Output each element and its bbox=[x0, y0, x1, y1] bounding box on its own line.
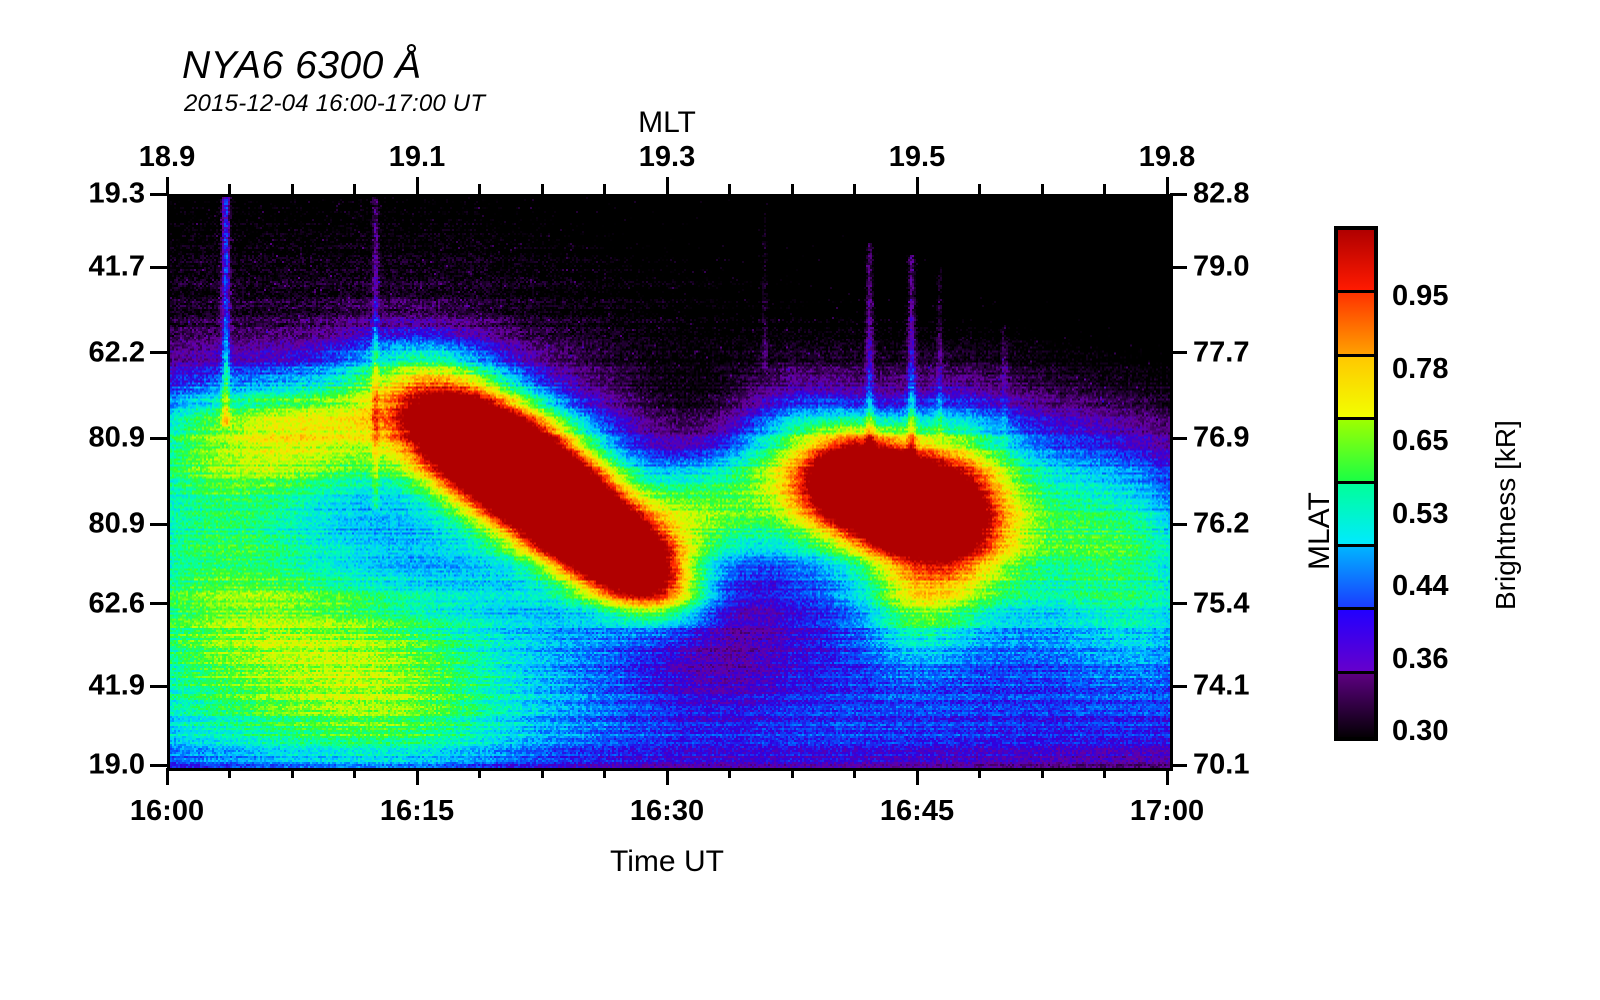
colorbar-tick-label: 0.36 bbox=[1392, 643, 1448, 676]
colorbar-tick-label: 0.53 bbox=[1392, 498, 1448, 531]
time-tick-label: 16:30 bbox=[630, 795, 704, 828]
elevation-tick-label: 62.2 bbox=[89, 336, 145, 369]
colorbar-segment bbox=[1338, 357, 1374, 420]
right-axis-title: MLAT bbox=[1303, 492, 1337, 570]
colorbar-segment bbox=[1338, 674, 1374, 737]
elevation-tick-label: 80.9 bbox=[89, 508, 145, 541]
colorbar-tick-label: 0.78 bbox=[1392, 353, 1448, 386]
mlt-tick-label: 19.5 bbox=[889, 141, 945, 174]
mlt-tick-label: 19.8 bbox=[1139, 141, 1195, 174]
colorbar-segment bbox=[1338, 484, 1374, 547]
bottom-axis-title: Time UT bbox=[610, 845, 724, 879]
colorbar-title: Brightness [kR] bbox=[1490, 420, 1522, 610]
keogram-image bbox=[170, 197, 1170, 768]
time-tick-label: 16:15 bbox=[380, 795, 454, 828]
colorbar-tick-label: 0.30 bbox=[1392, 715, 1448, 748]
colorbar-segment bbox=[1338, 420, 1374, 483]
elevation-tick-label: 19.0 bbox=[89, 749, 145, 782]
mlt-tick-label: 18.9 bbox=[139, 141, 195, 174]
mlat-tick-label: 77.7 bbox=[1193, 336, 1249, 369]
time-tick-label: 16:00 bbox=[130, 795, 204, 828]
elevation-tick-label: 41.7 bbox=[89, 251, 145, 284]
elevation-tick-label: 19.3 bbox=[89, 178, 145, 211]
elevation-tick-label: 41.9 bbox=[89, 670, 145, 703]
mlat-tick-label: 75.4 bbox=[1193, 587, 1249, 620]
mlat-tick-label: 76.9 bbox=[1193, 422, 1249, 455]
colorbar-segment bbox=[1338, 610, 1374, 673]
keogram-plot-area bbox=[167, 194, 1173, 771]
colorbar-tick-label: 0.65 bbox=[1392, 425, 1448, 458]
elevation-tick-label: 80.9 bbox=[89, 422, 145, 455]
time-tick-label: 17:00 bbox=[1130, 795, 1204, 828]
mlt-tick-label: 19.1 bbox=[389, 141, 445, 174]
colorbar-segment bbox=[1338, 547, 1374, 610]
colorbar-tick-label: 0.95 bbox=[1392, 280, 1448, 313]
time-tick-label: 16:45 bbox=[880, 795, 954, 828]
colorbar bbox=[1334, 226, 1378, 741]
colorbar-tick-label: 0.44 bbox=[1392, 570, 1448, 603]
mlat-tick-label: 82.8 bbox=[1193, 178, 1249, 211]
colorbar-segment bbox=[1338, 230, 1374, 293]
mlat-tick-label: 70.1 bbox=[1193, 749, 1249, 782]
mlat-tick-label: 74.1 bbox=[1193, 670, 1249, 703]
mlat-tick-label: 79.0 bbox=[1193, 251, 1249, 284]
colorbar-segment bbox=[1338, 293, 1374, 356]
page-subtitle: 2015-12-04 16:00-17:00 UT bbox=[184, 90, 485, 118]
top-axis-title: MLT bbox=[638, 106, 696, 140]
page-title: NYA6 6300 Å bbox=[182, 44, 422, 88]
elevation-tick-label: 62.6 bbox=[89, 587, 145, 620]
mlat-tick-label: 76.2 bbox=[1193, 508, 1249, 541]
mlt-tick-label: 19.3 bbox=[639, 141, 695, 174]
